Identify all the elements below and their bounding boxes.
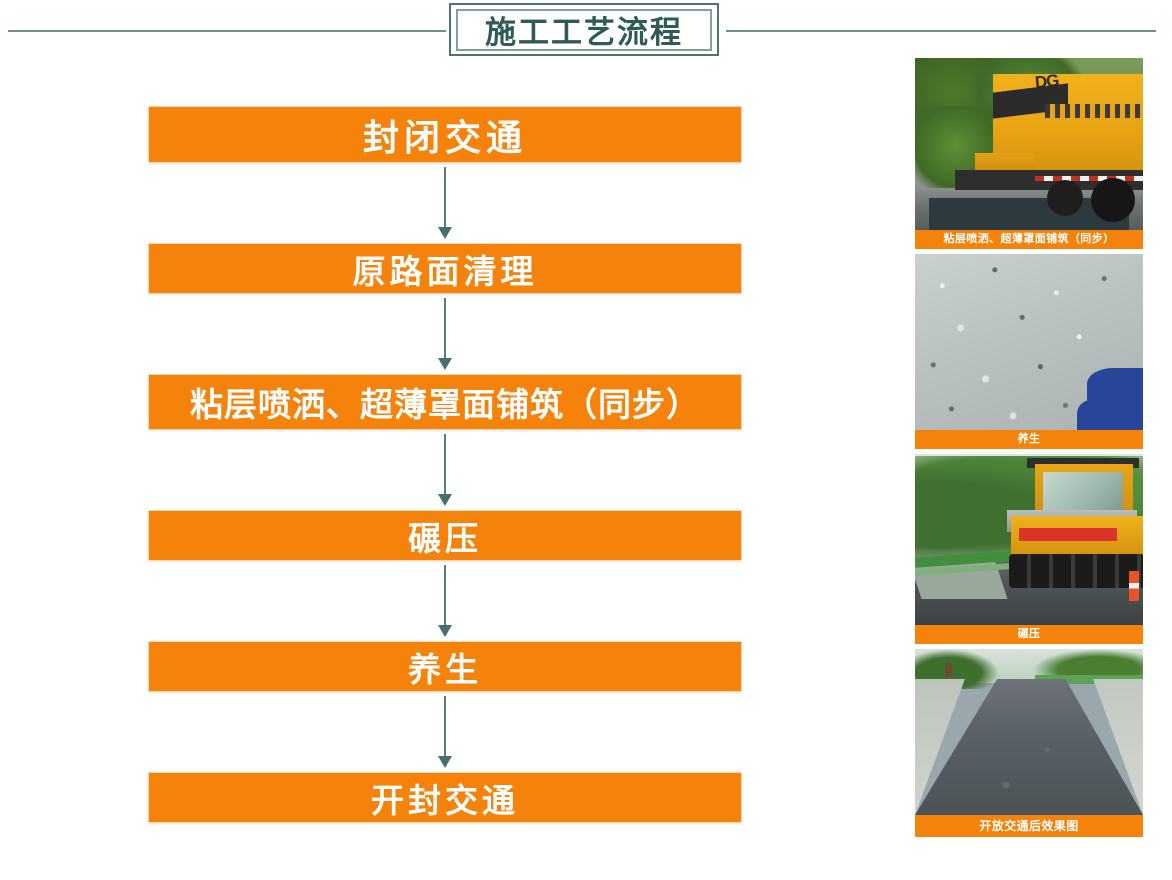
flow-step-1[interactable]: 封闭交通 (148, 106, 742, 163)
process-flowchart: 封闭交通 原路面清理 粘层喷洒、超薄罩面铺筑（同步） 碾压 养生 开封交通 (148, 106, 742, 823)
arrow-head-icon (438, 625, 452, 637)
flow-step-4-label: 碾压 (408, 512, 482, 560)
arrow-shaft (444, 298, 446, 360)
photo-card-2[interactable]: 养生 (915, 254, 1143, 449)
flow-arrow-4 (148, 561, 742, 641)
page-title: 施工工艺流程 (449, 3, 719, 56)
flow-arrow-3 (148, 430, 742, 510)
arrow-head-icon (438, 227, 452, 239)
header-rule-right (726, 30, 1156, 32)
photo-card-1[interactable]: DG 粘层喷洒、超薄罩面铺筑（同步） (915, 58, 1143, 249)
arrow-head-icon (438, 358, 452, 370)
photo-caption-3: 碾压 (915, 625, 1143, 644)
flow-step-5-label: 养生 (408, 643, 482, 691)
flow-arrow-5 (148, 692, 742, 772)
flow-step-6-label: 开封交通 (371, 774, 519, 822)
paver-truck-photo: DG (915, 58, 1143, 230)
photo-gallery: DG 粘层喷洒、超薄罩面铺筑（同步） 养生 (915, 58, 1143, 842)
arrow-shaft (444, 565, 446, 627)
page-header: 施工工艺流程 (0, 0, 1172, 62)
flow-arrow-2 (148, 294, 742, 374)
pneumatic-roller-photo (915, 454, 1143, 625)
flow-step-3-label: 粘层喷洒、超薄罩面铺筑（同步） (190, 378, 700, 426)
arrow-shaft (444, 696, 446, 758)
photo-caption-2: 养生 (915, 430, 1143, 449)
header-rule-left (8, 30, 446, 32)
flow-step-6[interactable]: 开封交通 (148, 772, 742, 823)
truck-badge-text: DG (1034, 71, 1059, 93)
finished-road-photo (915, 649, 1143, 815)
flow-step-1-label: 封闭交通 (363, 109, 527, 161)
photo-caption-1: 粘层喷洒、超薄罩面铺筑（同步） (915, 230, 1143, 249)
arrow-shaft (444, 434, 446, 496)
arrow-head-icon (438, 756, 452, 768)
aggregate-surface-photo (915, 254, 1143, 430)
arrow-head-icon (438, 494, 452, 506)
flow-step-3[interactable]: 粘层喷洒、超薄罩面铺筑（同步） (148, 374, 742, 430)
flow-step-4[interactable]: 碾压 (148, 510, 742, 561)
flow-step-2-label: 原路面清理 (353, 245, 538, 293)
photo-card-3[interactable]: 碾压 (915, 454, 1143, 644)
photo-card-4[interactable]: 开放交通后效果图 (915, 649, 1143, 837)
photo-caption-4: 开放交通后效果图 (915, 815, 1143, 837)
flow-arrow-1 (148, 163, 742, 243)
flow-step-2[interactable]: 原路面清理 (148, 243, 742, 294)
arrow-shaft (444, 167, 446, 229)
flow-step-5[interactable]: 养生 (148, 641, 742, 692)
